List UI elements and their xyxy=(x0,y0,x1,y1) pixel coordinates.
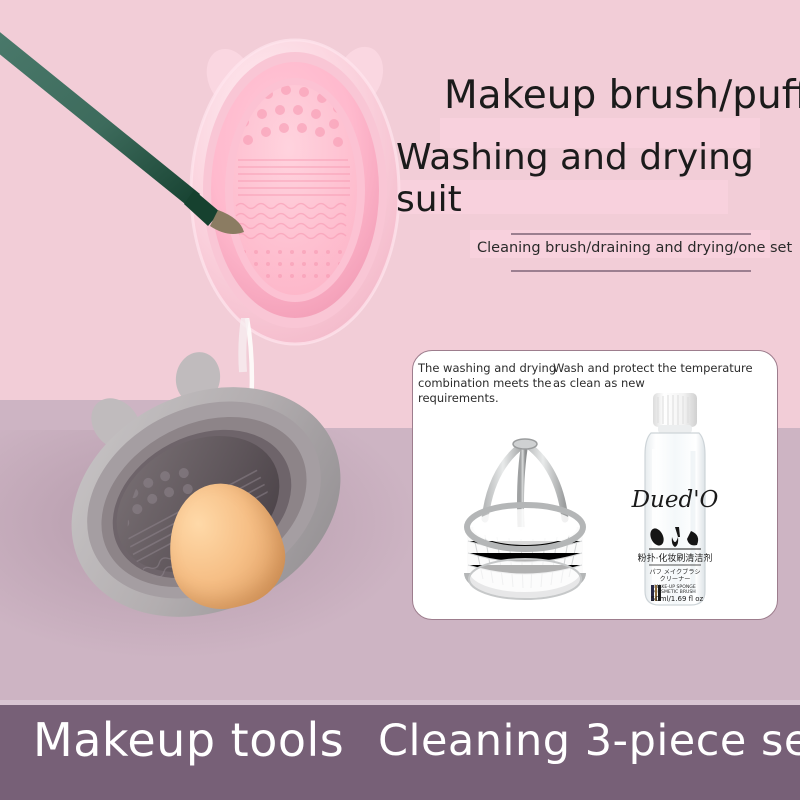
advertisement-poster: Makeup brush/puff Washing and drying sui… xyxy=(0,0,800,800)
headline-subtitle: Cleaning brush/draining and drying/one s… xyxy=(477,240,792,256)
cleanser-bottle-image: Dued'O 粉扑·化妆刷清洁剂 パフ メイクブラシ クリーナー MAKE-UP… xyxy=(625,389,725,614)
svg-text:50ml/1.69 fl oz: 50ml/1.69 fl oz xyxy=(651,595,704,603)
subtitle-rule-bottom xyxy=(511,270,751,272)
panel-caption-right: Wash and protect the temperature as clea… xyxy=(553,361,768,391)
makeup-brush-icon xyxy=(0,18,264,238)
drying-rack-image xyxy=(455,429,595,609)
svg-text:粉扑·化妆刷清洁剂: 粉扑·化妆刷清洁剂 xyxy=(638,552,713,564)
product-detail-panel: The washing and drying combination meets… xyxy=(412,350,778,620)
banner-text-right: Cleaning 3-piece set xyxy=(378,716,800,766)
headline-line-2: Washing and drying suit xyxy=(396,137,756,221)
svg-text:クリーナー: クリーナー xyxy=(660,576,691,583)
svg-text:Dued'O: Dued'O xyxy=(631,487,719,513)
svg-text:パフ メイクブラシ: パフ メイクブラシ xyxy=(649,568,700,576)
banner-text-left: Makeup tools xyxy=(33,713,344,767)
headline-line-1: Makeup brush/puff xyxy=(444,73,800,118)
subtitle-rule-top xyxy=(511,233,751,235)
